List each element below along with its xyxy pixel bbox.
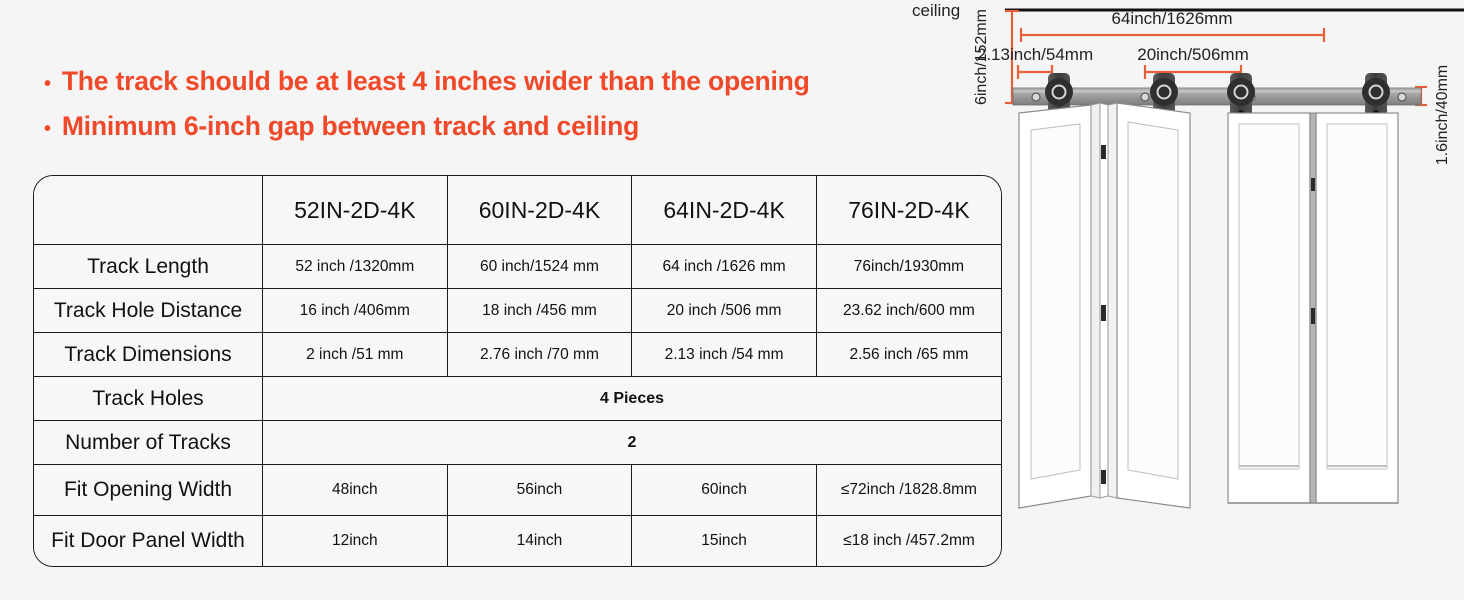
row-label: Fit Door Panel Width	[34, 516, 263, 567]
note-text: Minimum 6-inch gap between track and cei…	[62, 105, 639, 147]
table-cell: 48inch	[263, 465, 448, 516]
table-cell-merged: 4 Pieces	[263, 377, 1002, 421]
column-header: 60IN-2D-4K	[447, 176, 632, 245]
note-text: The track should be at least 4 inches wi…	[62, 60, 810, 102]
table-cell: 60 inch/1524 mm	[447, 245, 632, 289]
door-hinge	[1311, 178, 1315, 191]
door-hinge-stile	[1100, 103, 1108, 498]
door-hinge	[1101, 145, 1106, 159]
row-label: Number of Tracks	[34, 421, 263, 465]
table-cell: 52 inch /1320mm	[263, 245, 448, 289]
track-hole	[1398, 93, 1406, 101]
table-cell: 2.76 inch /70 mm	[447, 333, 632, 377]
table-cell: 18 inch /456 mm	[447, 289, 632, 333]
table-corner-cell	[34, 176, 263, 245]
row-label: Track Hole Distance	[34, 289, 263, 333]
door-hinge-stile	[1108, 103, 1117, 498]
column-header: 52IN-2D-4K	[263, 176, 448, 245]
table-cell: 12inch	[263, 516, 448, 567]
dim-hole-distance-label: 20inch/506mm	[1137, 45, 1249, 64]
dim-track-width	[1018, 65, 1052, 79]
table-cell: 64 inch /1626 mm	[632, 245, 817, 289]
track-rail	[1013, 88, 1421, 105]
ceiling-label: ceiling	[912, 1, 960, 20]
note-item: • The track should be at least 4 inches …	[44, 60, 924, 105]
table-cell: 14inch	[447, 516, 632, 567]
door-hinge	[1101, 470, 1106, 484]
door-leaf-inner-panel	[1031, 124, 1080, 479]
dim-track-height-label: 1.6inch/40mm	[1434, 65, 1451, 166]
specification-table: 52IN-2D-4K 60IN-2D-4K 64IN-2D-4K 76IN-2D…	[33, 175, 1002, 567]
table-cell: 16 inch /406mm	[263, 289, 448, 333]
column-header: 64IN-2D-4K	[632, 176, 817, 245]
row-label: Track Holes	[34, 377, 263, 421]
table-row: Fit Door Panel Width 12inch 14inch 15inc…	[34, 516, 1001, 567]
track-hole	[1032, 93, 1040, 101]
bullet-icon: •	[44, 63, 51, 105]
table-cell: 60inch	[632, 465, 817, 516]
door-leaf-inner-panel	[1128, 122, 1178, 479]
table-row: Track Holes 4 Pieces	[34, 377, 1001, 421]
door-hinge	[1101, 305, 1106, 321]
table-header-row: 52IN-2D-4K 60IN-2D-4K 64IN-2D-4K 76IN-2D…	[34, 176, 1001, 245]
table-row: Track Hole Distance 16 inch /406mm 18 in…	[34, 289, 1001, 333]
table-cell-merged: 2	[263, 421, 1002, 465]
dim-track-length-label: 64inch/1626mm	[1112, 9, 1233, 28]
dim-track-length	[1021, 28, 1324, 42]
table-cell: 56inch	[447, 465, 632, 516]
table-row: Track Dimensions 2 inch /51 mm 2.76 inch…	[34, 333, 1001, 377]
door-leaf-inner-panel	[1327, 124, 1387, 469]
note-item: • Minimum 6-inch gap between track and c…	[44, 105, 924, 150]
dim-track-width-label: 2.13inch/54mm	[977, 45, 1093, 64]
row-label: Track Length	[34, 245, 263, 289]
bullet-icon: •	[44, 108, 51, 150]
notes-list: • The track should be at least 4 inches …	[44, 60, 924, 150]
table-row: Track Length 52 inch /1320mm 60 inch/152…	[34, 245, 1001, 289]
door-leaf-inner-panel	[1239, 124, 1299, 469]
table-cell: 2.13 inch /54 mm	[632, 333, 817, 377]
table-cell: 15inch	[632, 516, 817, 567]
track-hole	[1141, 93, 1149, 101]
table-row: Number of Tracks 2	[34, 421, 1001, 465]
door-hinge-stile	[1091, 103, 1100, 498]
table-cell: 2 inch /51 mm	[263, 333, 448, 377]
row-label: Fit Opening Width	[34, 465, 263, 516]
door-hinge	[1311, 308, 1315, 324]
door-track-diagram: ceiling 6inch/152mm 64inch/1626mm 2.13in…	[900, 0, 1464, 600]
row-label: Track Dimensions	[34, 333, 263, 377]
table-cell: 20 inch /506 mm	[632, 289, 817, 333]
table-row: Fit Opening Width 48inch 56inch 60inch ≤…	[34, 465, 1001, 516]
